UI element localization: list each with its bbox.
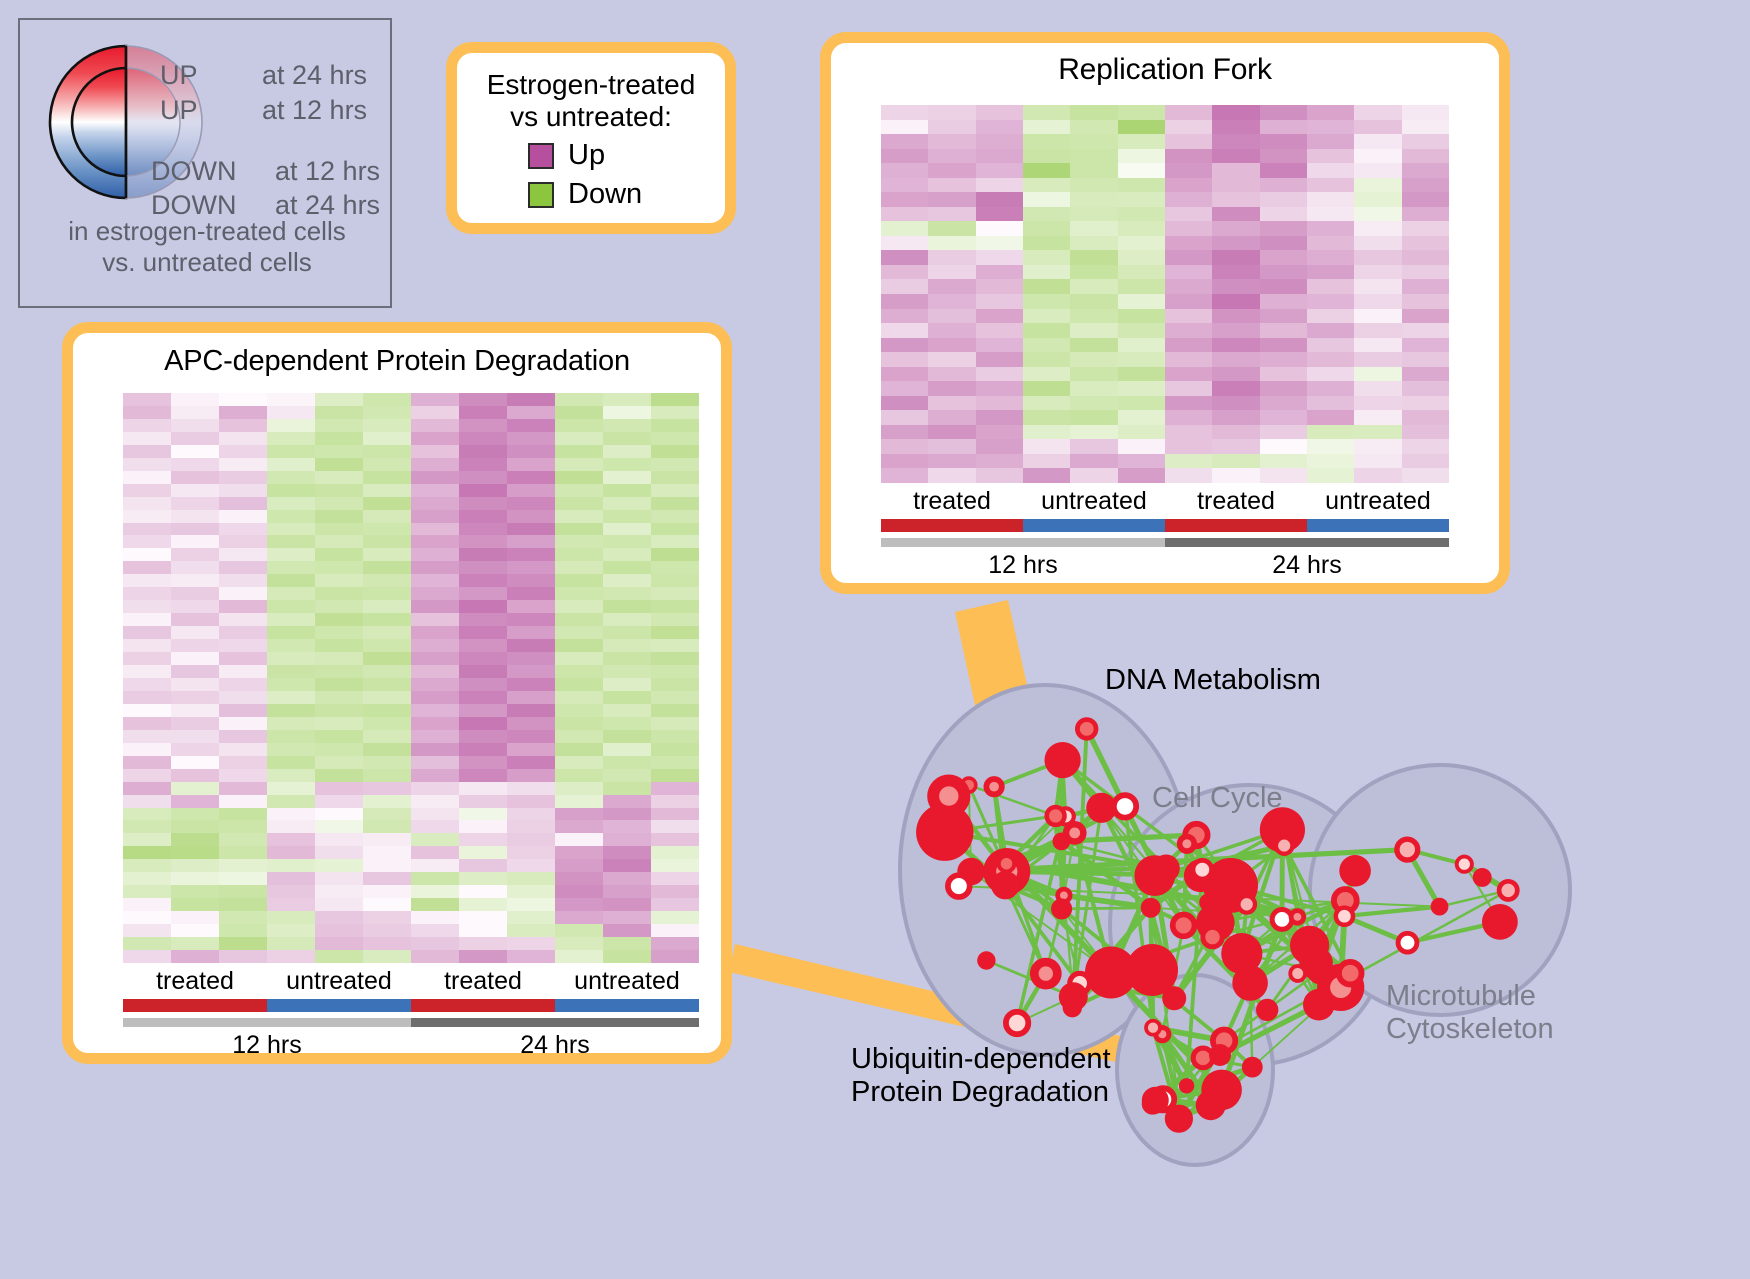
- heatmap-cell: [928, 149, 975, 164]
- heatmap-cell: [1023, 294, 1070, 309]
- heatmap-cell: [651, 523, 699, 536]
- heatmap-cell: [219, 833, 267, 846]
- network-node[interactable]: [1047, 807, 1065, 825]
- heatmap-cell: [1307, 410, 1354, 425]
- heatmap-cell: [1023, 425, 1070, 440]
- heatmap-cell: [507, 406, 555, 419]
- heatmap-cell: [411, 613, 459, 626]
- heatmap-cell: [315, 717, 363, 730]
- heatmap-cell: [1307, 468, 1354, 483]
- network-node-core: [1060, 892, 1068, 900]
- heatmap-cell: [1307, 425, 1354, 440]
- network-node[interactable]: [1141, 898, 1161, 918]
- up-down-key-box: Estrogen-treated vs untreated: Up Down: [446, 42, 736, 234]
- heatmap-cell: [555, 548, 603, 561]
- heatmap-cell: [555, 859, 603, 872]
- network-node[interactable]: [999, 856, 1015, 872]
- heatmap-replication-fork: [881, 105, 1449, 483]
- heatmap-cell: [976, 454, 1023, 469]
- heatmap-cell: [315, 743, 363, 756]
- heatmap-cell: [459, 600, 507, 613]
- heatmap-cell: [555, 937, 603, 950]
- heatmap-cell: [603, 717, 651, 730]
- heatmap-cell: [1307, 279, 1354, 294]
- heatmap-cell: [171, 548, 219, 561]
- heatmap-cell: [881, 120, 928, 135]
- heatmap-cell: [603, 561, 651, 574]
- heatmap-cell: [1023, 338, 1070, 353]
- network-node-core: [1182, 839, 1191, 848]
- network-node-core: [1039, 966, 1053, 980]
- heatmap-cell: [171, 756, 219, 769]
- heatmap-cell: [1354, 367, 1401, 382]
- heatmap-cell: [1212, 250, 1259, 265]
- heatmap-cell: [1165, 207, 1212, 222]
- heatmap-cell: [411, 756, 459, 769]
- heatmap-cell: [651, 782, 699, 795]
- heatmap-cell: [219, 471, 267, 484]
- heatmap-cell: [315, 859, 363, 872]
- network-node[interactable]: [1165, 1105, 1193, 1133]
- heatmap-cell: [171, 795, 219, 808]
- heatmap-cell: [1070, 163, 1117, 178]
- heatmap-cell: [411, 419, 459, 432]
- heatmap-cell: [1118, 236, 1165, 251]
- heatmap-cell: [459, 484, 507, 497]
- network-node[interactable]: [1303, 989, 1335, 1021]
- heatmap-cell: [171, 458, 219, 471]
- network-node[interactable]: [1397, 839, 1418, 860]
- heatmap-cell: [123, 445, 171, 458]
- heatmap-cell: [1402, 250, 1449, 265]
- heatmap-cell: [1023, 279, 1070, 294]
- network-node[interactable]: [1173, 915, 1195, 937]
- network-node[interactable]: [1063, 998, 1082, 1017]
- heatmap-cell: [315, 587, 363, 600]
- heatmap-cell: [651, 833, 699, 846]
- heatmap-cell: [881, 367, 928, 382]
- key-title: Estrogen-treated vs untreated:: [467, 69, 715, 133]
- heatmap-cell: [219, 885, 267, 898]
- heatmap-cell: [123, 691, 171, 704]
- heatmap-cell: [1402, 207, 1449, 222]
- heatmap-cell: [928, 323, 975, 338]
- network-node[interactable]: [1238, 896, 1255, 913]
- network-node[interactable]: [1339, 962, 1362, 985]
- heatmap-cell: [1402, 294, 1449, 309]
- heatmap-cell: [1070, 396, 1117, 411]
- network-node[interactable]: [1146, 1021, 1160, 1035]
- heatmap-cell: [1402, 105, 1449, 120]
- heatmap-cell: [1402, 236, 1449, 251]
- heatmap-cell: [363, 898, 411, 911]
- heatmap-cell: [411, 574, 459, 587]
- heatmap-cell: [881, 396, 928, 411]
- heatmap-cell: [219, 445, 267, 458]
- heatmap-cell: [1118, 120, 1165, 135]
- heatmap-cell: [1402, 265, 1449, 280]
- heatmap-cell: [928, 396, 975, 411]
- heatmap-cell: [1307, 439, 1354, 454]
- heatmap-cell: [315, 782, 363, 795]
- heatmap-cell: [1023, 454, 1070, 469]
- network-node[interactable]: [1431, 898, 1449, 916]
- heatmap-cell: [881, 134, 928, 149]
- time-bar-replication-fork: [881, 538, 1449, 547]
- heatmap-cell: [1354, 279, 1401, 294]
- heatmap-cell: [123, 704, 171, 717]
- network-node[interactable]: [948, 875, 970, 897]
- heatmap-cell: [267, 833, 315, 846]
- network-node[interactable]: [1272, 910, 1292, 930]
- heatmap-cell: [459, 665, 507, 678]
- heatmap-cell: [1023, 178, 1070, 193]
- heatmap-cell: [1402, 367, 1449, 382]
- heatmap-cell: [881, 221, 928, 236]
- heatmap-cell: [1402, 323, 1449, 338]
- heatmap-cell: [1260, 221, 1307, 236]
- heatmap-cell: [219, 704, 267, 717]
- heatmap-cell: [555, 950, 603, 963]
- time-labels-replication-fork: 12 hrs 24 hrs: [881, 551, 1449, 580]
- heatmap-cell: [651, 691, 699, 704]
- time-labels-apc: 12 hrs 24 hrs: [123, 1031, 699, 1060]
- heatmap-cell: [555, 769, 603, 782]
- heatmap-cell: [651, 756, 699, 769]
- heatmap-cell: [1023, 410, 1070, 425]
- heatmap-cell: [459, 406, 507, 419]
- network-node[interactable]: [1290, 966, 1305, 981]
- heatmap-cell: [171, 510, 219, 523]
- heatmap-cell: [976, 410, 1023, 425]
- network-node[interactable]: [1482, 904, 1518, 940]
- heatmap-cell: [1260, 178, 1307, 193]
- heatmap-cell: [1212, 468, 1259, 483]
- heatmap-cell: [267, 808, 315, 821]
- heatmap-cell: [123, 937, 171, 950]
- heatmap-cell: [1070, 221, 1117, 236]
- heatmap-cell: [411, 406, 459, 419]
- heatmap-cell: [315, 574, 363, 587]
- heatmap-apc-dependent-protein-degradation: [123, 393, 699, 963]
- time-bar-seg-12hrs: [123, 1018, 411, 1027]
- network-node[interactable]: [991, 871, 1019, 899]
- network-node[interactable]: [1457, 857, 1472, 872]
- heatmap-cell: [1165, 309, 1212, 324]
- heatmap-cell: [363, 665, 411, 678]
- heatmap-cell: [459, 535, 507, 548]
- heatmap-cell: [315, 691, 363, 704]
- heatmap-cell: [363, 652, 411, 665]
- condition-bar-seg-2: [1165, 519, 1307, 532]
- heatmap-cell: [603, 471, 651, 484]
- heatmap-cell: [976, 163, 1023, 178]
- condition-bar-seg-0: [123, 999, 267, 1012]
- heatmap-cell: [507, 484, 555, 497]
- heatmap-cell: [315, 600, 363, 613]
- heatmap-cell: [555, 419, 603, 432]
- heatmap-cell: [507, 587, 555, 600]
- heatmap-cell: [507, 665, 555, 678]
- heatmap-cell: [315, 652, 363, 665]
- key-swatch-up: [528, 143, 554, 169]
- heatmap-cell: [1118, 309, 1165, 324]
- panel-replication-fork: Replication Fork treated untreated treat…: [820, 32, 1510, 594]
- network-node[interactable]: [1147, 867, 1165, 885]
- heatmap-cell: [1307, 120, 1354, 135]
- heatmap-cell: [1354, 425, 1401, 440]
- heatmap-cell: [1354, 192, 1401, 207]
- heatmap-cell: [507, 535, 555, 548]
- heatmap-cell: [1402, 178, 1449, 193]
- heatmap-cell: [603, 820, 651, 833]
- network-node[interactable]: [1398, 933, 1417, 952]
- heatmap-cell: [363, 769, 411, 782]
- heatmap-cell: [1354, 120, 1401, 135]
- heatmap-cell: [1023, 323, 1070, 338]
- condition-label-2: treated: [411, 967, 555, 996]
- heatmap-cell: [976, 381, 1023, 396]
- heatmap-cell: [363, 626, 411, 639]
- heatmap-cell: [123, 587, 171, 600]
- heatmap-cell: [881, 323, 928, 338]
- heatmap-cell: [507, 393, 555, 406]
- heatmap-cell: [315, 561, 363, 574]
- heatmap-cell: [507, 445, 555, 458]
- heatmap-cell: [881, 163, 928, 178]
- heatmap-cell: [651, 795, 699, 808]
- network-node[interactable]: [1045, 742, 1081, 778]
- heatmap-cell: [1307, 352, 1354, 367]
- heatmap-cell: [928, 352, 975, 367]
- heatmap-cell: [171, 717, 219, 730]
- heatmap-cell: [1307, 221, 1354, 236]
- heatmap-cell: [267, 872, 315, 885]
- heatmap-cell: [411, 717, 459, 730]
- heatmap-cell: [507, 626, 555, 639]
- heatmap-cell: [315, 432, 363, 445]
- heatmap-cell: [219, 548, 267, 561]
- heatmap-cell: [219, 523, 267, 536]
- heatmap-cell: [928, 454, 975, 469]
- heatmap-cell: [411, 510, 459, 523]
- heatmap-cell: [976, 221, 1023, 236]
- network-node[interactable]: [1475, 870, 1490, 885]
- heatmap-cell: [976, 105, 1023, 120]
- heatmap-cell: [555, 652, 603, 665]
- network-node[interactable]: [1165, 989, 1184, 1008]
- network-node-core: [939, 786, 958, 805]
- heatmap-cell: [219, 846, 267, 859]
- heatmap-cell: [459, 924, 507, 937]
- time-bar-seg-24hrs: [1165, 538, 1449, 547]
- network-node[interactable]: [1499, 881, 1517, 899]
- heatmap-cell: [171, 743, 219, 756]
- heatmap-cell: [123, 510, 171, 523]
- heatmap-cell: [459, 769, 507, 782]
- heatmap-cell: [507, 510, 555, 523]
- heatmap-cell: [1118, 381, 1165, 396]
- heatmap-cell: [603, 574, 651, 587]
- time-bar-seg-12hrs: [881, 538, 1165, 547]
- heatmap-cell: [976, 367, 1023, 382]
- heatmap-cell: [976, 352, 1023, 367]
- heatmap-cell: [219, 458, 267, 471]
- heatmap-cell: [267, 820, 315, 833]
- heatmap-cell: [219, 406, 267, 419]
- heatmap-cell: [171, 833, 219, 846]
- heatmap-cell: [1307, 294, 1354, 309]
- heatmap-cell: [507, 808, 555, 821]
- heatmap-cell: [928, 163, 975, 178]
- heatmap-cell: [1402, 279, 1449, 294]
- heatmap-cell: [459, 626, 507, 639]
- network-node[interactable]: [977, 951, 995, 969]
- heatmap-cell: [411, 937, 459, 950]
- heatmap-cell: [411, 950, 459, 963]
- network-node[interactable]: [1006, 1012, 1028, 1034]
- heatmap-cell: [555, 820, 603, 833]
- heatmap-cell: [1023, 468, 1070, 483]
- heatmap-cell: [1354, 439, 1401, 454]
- heatmap-cell: [603, 626, 651, 639]
- heatmap-cell: [976, 468, 1023, 483]
- condition-bar-apc: [123, 999, 699, 1012]
- network-node[interactable]: [1199, 894, 1217, 912]
- heatmap-cell: [363, 808, 411, 821]
- network-node[interactable]: [1232, 965, 1268, 1001]
- heatmap-cell: [411, 924, 459, 937]
- cluster-label-dna-metabolism: DNA Metabolism: [1105, 664, 1321, 697]
- heatmap-cell: [976, 134, 1023, 149]
- heatmap-cell: [219, 782, 267, 795]
- heatmap-cell: [603, 769, 651, 782]
- heatmap-cell: [1307, 381, 1354, 396]
- heatmap-cell: [507, 859, 555, 872]
- network-node[interactable]: [1339, 855, 1371, 887]
- heatmap-cell: [171, 846, 219, 859]
- heatmap-cell: [1023, 134, 1070, 149]
- heatmap-cell: [1307, 338, 1354, 353]
- heatmap-cell: [1212, 120, 1259, 135]
- network-node[interactable]: [1142, 1087, 1169, 1114]
- heatmap-cell: [315, 911, 363, 924]
- heatmap-cell: [976, 178, 1023, 193]
- cbar-state-0: UP: [160, 60, 198, 90]
- heatmap-cell: [651, 820, 699, 833]
- network-node[interactable]: [1290, 926, 1329, 965]
- network-node[interactable]: [1336, 908, 1353, 925]
- heatmap-cell: [123, 795, 171, 808]
- heatmap-cell: [1260, 338, 1307, 353]
- key-swatch-down: [528, 182, 554, 208]
- heatmap-cell: [1354, 396, 1401, 411]
- heatmap-cell: [123, 523, 171, 536]
- heatmap-cell: [1307, 207, 1354, 222]
- heatmap-cell: [507, 846, 555, 859]
- heatmap-cell: [1212, 338, 1259, 353]
- network-node[interactable]: [1114, 795, 1136, 817]
- heatmap-cell: [267, 846, 315, 859]
- heatmap-cell: [123, 574, 171, 587]
- heatmap-cell: [555, 911, 603, 924]
- heatmap-cell: [603, 497, 651, 510]
- heatmap-cell: [603, 393, 651, 406]
- heatmap-cell: [411, 678, 459, 691]
- network-node[interactable]: [1242, 1057, 1263, 1078]
- network-node[interactable]: [1053, 901, 1070, 918]
- network-node[interactable]: [1179, 1078, 1194, 1093]
- heatmap-cell: [507, 950, 555, 963]
- heatmap-cell: [555, 510, 603, 523]
- network-node[interactable]: [1053, 833, 1071, 851]
- network-node[interactable]: [1256, 999, 1278, 1021]
- network-node[interactable]: [1126, 944, 1178, 996]
- heatmap-cell: [411, 665, 459, 678]
- heatmap-cell: [507, 613, 555, 626]
- heatmap-cell: [507, 911, 555, 924]
- heatmap-cell: [267, 704, 315, 717]
- heatmap-cell: [267, 484, 315, 497]
- heatmap-cell: [881, 265, 928, 280]
- heatmap-cell: [171, 652, 219, 665]
- heatmap-cell: [603, 872, 651, 885]
- heatmap-cell: [603, 523, 651, 536]
- heatmap-cell: [219, 717, 267, 730]
- heatmap-cell: [171, 730, 219, 743]
- heatmap-cell: [1212, 163, 1259, 178]
- heatmap-cell: [171, 665, 219, 678]
- heatmap-cell: [1118, 105, 1165, 120]
- network-node[interactable]: [1209, 1044, 1231, 1066]
- heatmap-cell: [1118, 279, 1165, 294]
- heatmap-cell: [1023, 105, 1070, 120]
- condition-bar-replication-fork: [881, 519, 1449, 532]
- heatmap-cell: [267, 911, 315, 924]
- heatmap-cell: [928, 309, 975, 324]
- heatmap-cell: [315, 535, 363, 548]
- network-node[interactable]: [1203, 927, 1222, 946]
- heatmap-cell: [171, 820, 219, 833]
- heatmap-cell: [459, 691, 507, 704]
- heatmap-cell: [363, 717, 411, 730]
- heatmap-cell: [603, 950, 651, 963]
- heatmap-cell: [1354, 163, 1401, 178]
- heatmap-cell: [171, 445, 219, 458]
- heatmap-cell: [123, 419, 171, 432]
- heatmap-cell: [363, 471, 411, 484]
- heatmap-cell: [267, 665, 315, 678]
- heatmap-cell: [1023, 352, 1070, 367]
- heatmap-cell: [411, 458, 459, 471]
- network-node[interactable]: [1193, 860, 1212, 879]
- cbar-time-0: at 24 hrs: [262, 60, 367, 90]
- heatmap-cell: [267, 419, 315, 432]
- heatmap-cell: [1212, 425, 1259, 440]
- heatmap-cell: [459, 808, 507, 821]
- network-node[interactable]: [1276, 837, 1292, 853]
- network-node[interactable]: [1201, 1070, 1242, 1111]
- heatmap-cell: [651, 471, 699, 484]
- heatmap-cell: [603, 859, 651, 872]
- heatmap-cell: [928, 207, 975, 222]
- heatmap-cell: [267, 691, 315, 704]
- heatmap-cell: [459, 885, 507, 898]
- heatmap-cell: [976, 338, 1023, 353]
- network-node[interactable]: [1077, 720, 1096, 739]
- heatmap-cell: [1212, 105, 1259, 120]
- heatmap-cell: [411, 730, 459, 743]
